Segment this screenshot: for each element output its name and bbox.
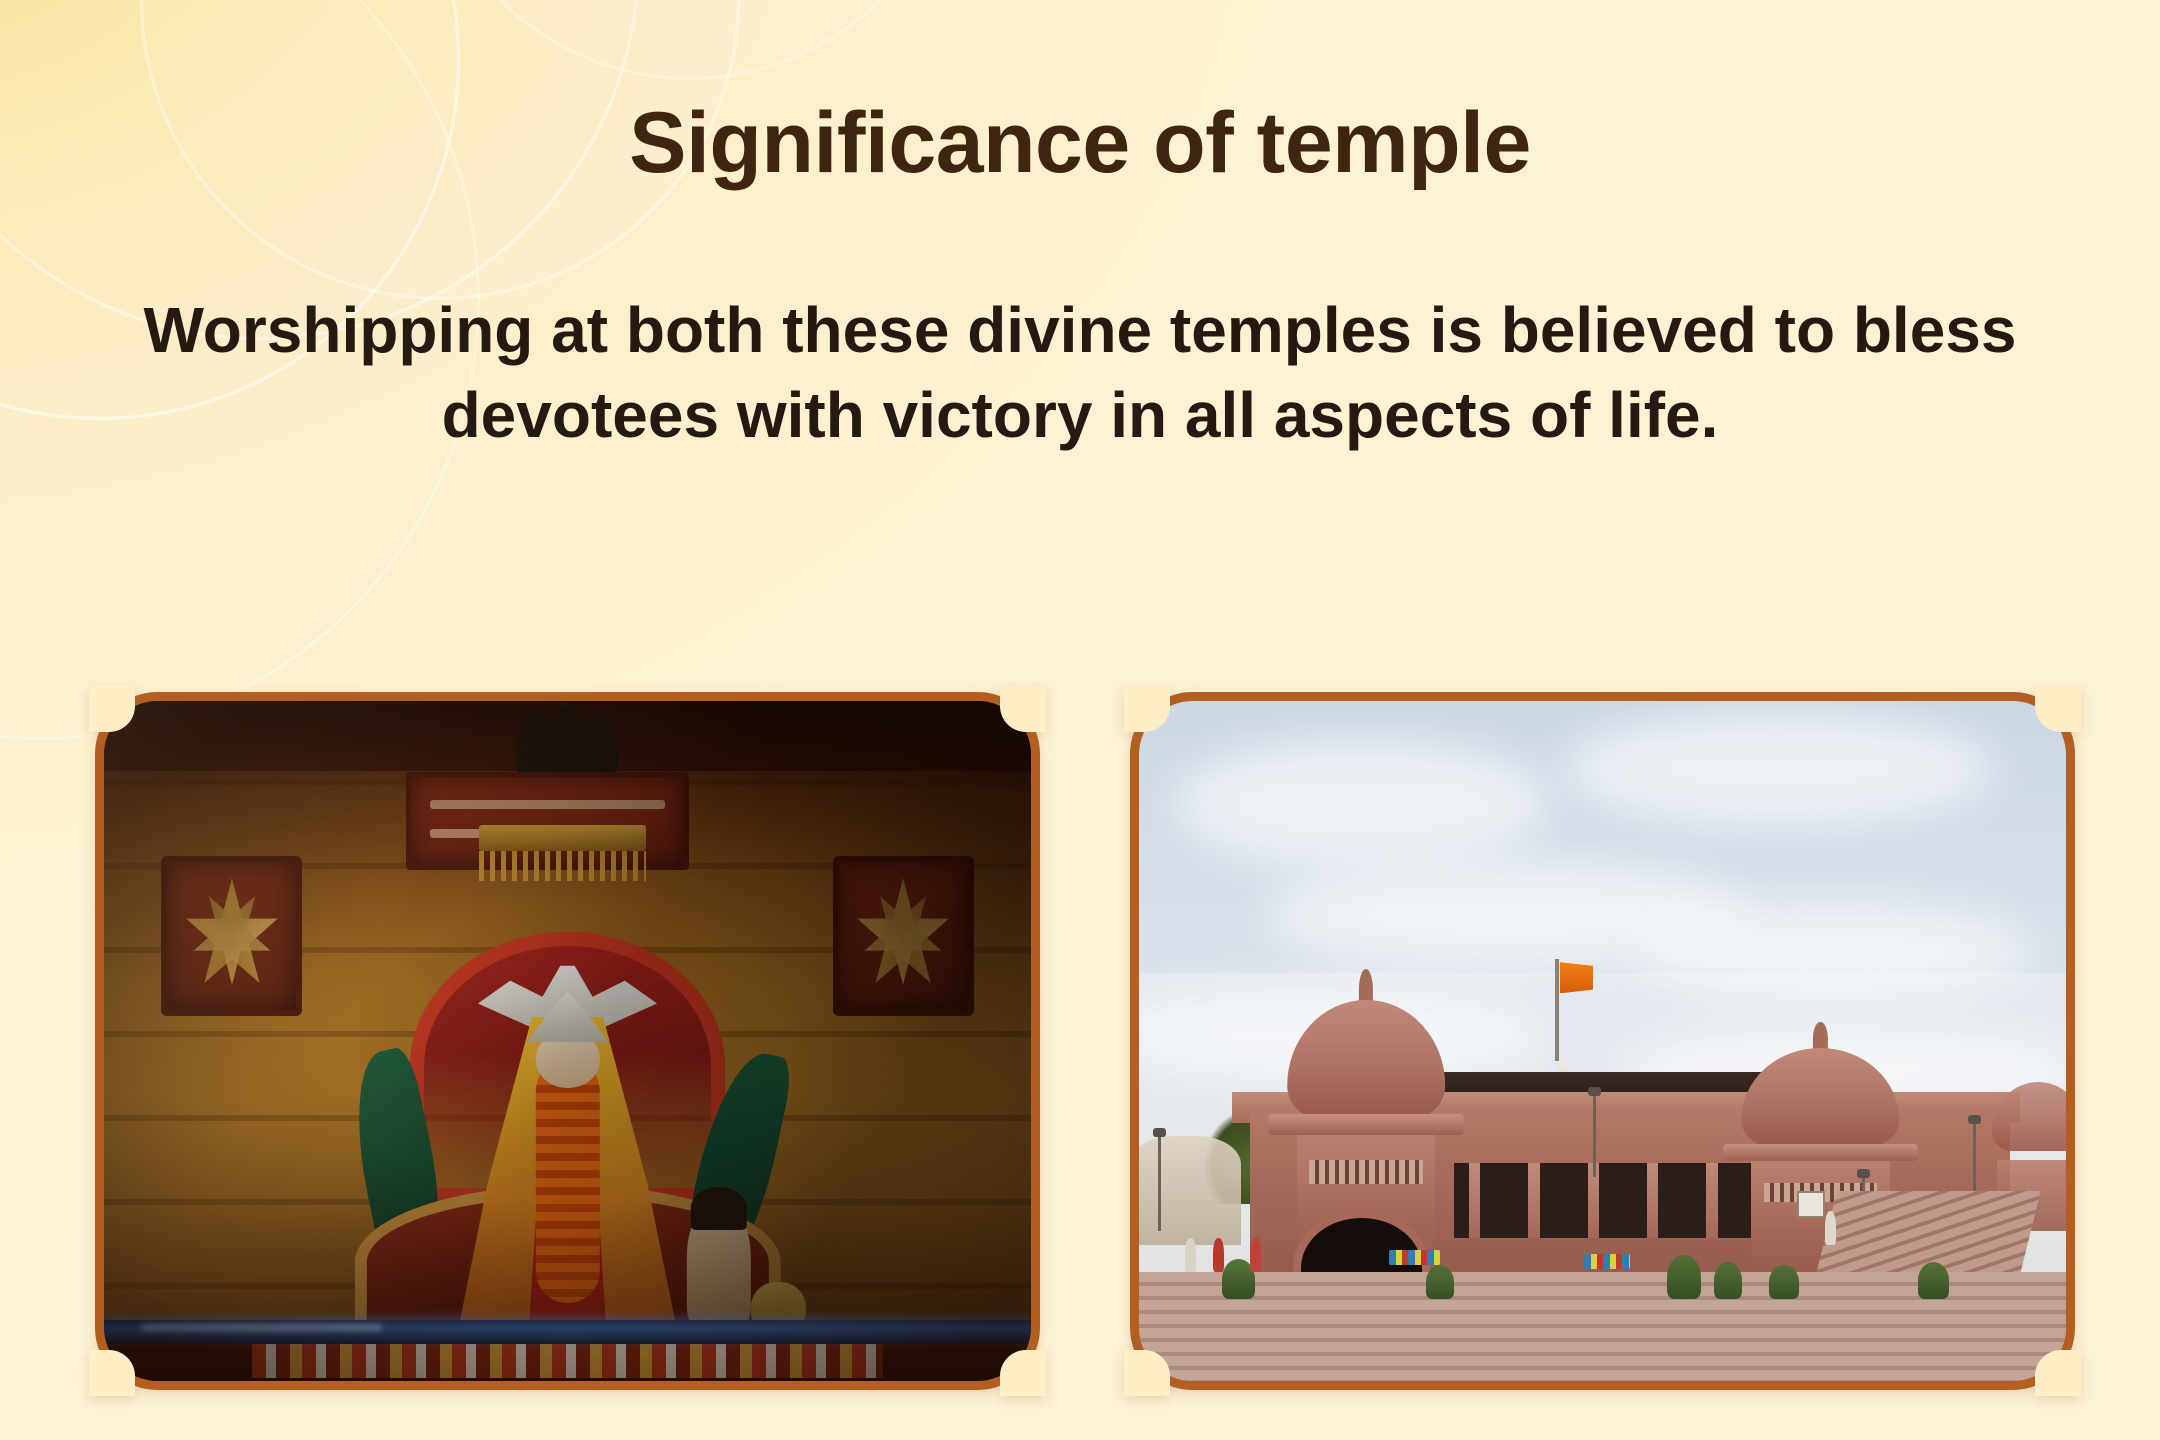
shrub bbox=[1714, 1262, 1742, 1299]
visitor-figure bbox=[1185, 1238, 1196, 1272]
dome-icon bbox=[1287, 1000, 1445, 1119]
colonnade-pillar bbox=[1647, 1163, 1658, 1238]
painted-bench bbox=[1389, 1250, 1440, 1265]
body-paragraph-line-2: devotees with victory in all aspects of … bbox=[70, 373, 2090, 458]
colonnade-pillar bbox=[1528, 1163, 1539, 1238]
image-card-left[interactable] bbox=[95, 692, 1040, 1390]
street-lamp-icon bbox=[1593, 1095, 1596, 1177]
street-lamp-icon bbox=[1158, 1136, 1161, 1231]
shrub bbox=[1426, 1265, 1454, 1299]
dome-icon bbox=[1992, 1082, 2066, 1151]
decorative-circle-icon bbox=[420, 0, 960, 80]
colonnade-pillar bbox=[1706, 1163, 1717, 1238]
visitor-figure bbox=[1213, 1238, 1224, 1272]
sandstone-temple-photo bbox=[1139, 701, 2066, 1381]
shrub bbox=[1769, 1265, 1799, 1299]
pavilion-eave bbox=[1723, 1144, 1918, 1161]
cloud-icon bbox=[1176, 742, 1547, 864]
colonnade-pillar bbox=[1469, 1163, 1480, 1238]
page-title: Significance of temple bbox=[0, 98, 2160, 188]
shrub bbox=[1667, 1255, 1700, 1299]
body-paragraph: Worshipping at both these divine temples… bbox=[70, 288, 2090, 458]
temple-deity-photo bbox=[104, 701, 1031, 1381]
body-paragraph-line-1: Worshipping at both these divine temples… bbox=[70, 288, 2090, 373]
image-card-right[interactable] bbox=[1130, 692, 2075, 1390]
shrub bbox=[1918, 1262, 1950, 1299]
shrine-scene bbox=[104, 701, 1031, 1381]
adjacent-building bbox=[1139, 1136, 1241, 1245]
visitor-figure bbox=[1250, 1238, 1261, 1272]
saffron-flag-icon bbox=[1560, 962, 1593, 993]
pavilion-railing bbox=[1309, 1160, 1422, 1183]
pavilion-eave bbox=[1268, 1114, 1463, 1135]
dome-icon bbox=[1742, 1048, 1900, 1148]
cloud-icon bbox=[1565, 715, 1991, 824]
photo-vignette bbox=[104, 701, 1031, 1381]
temple-exterior-scene bbox=[1139, 701, 2066, 1381]
image-gallery bbox=[0, 692, 2160, 1392]
visitor-figure bbox=[1825, 1211, 1836, 1245]
wall-sign-plate bbox=[1797, 1191, 1825, 1218]
painted-bench bbox=[1584, 1254, 1630, 1269]
flag-pole bbox=[1555, 959, 1559, 1061]
slide-canvas: Significance of temple Worshipping at bo… bbox=[0, 0, 2160, 1440]
